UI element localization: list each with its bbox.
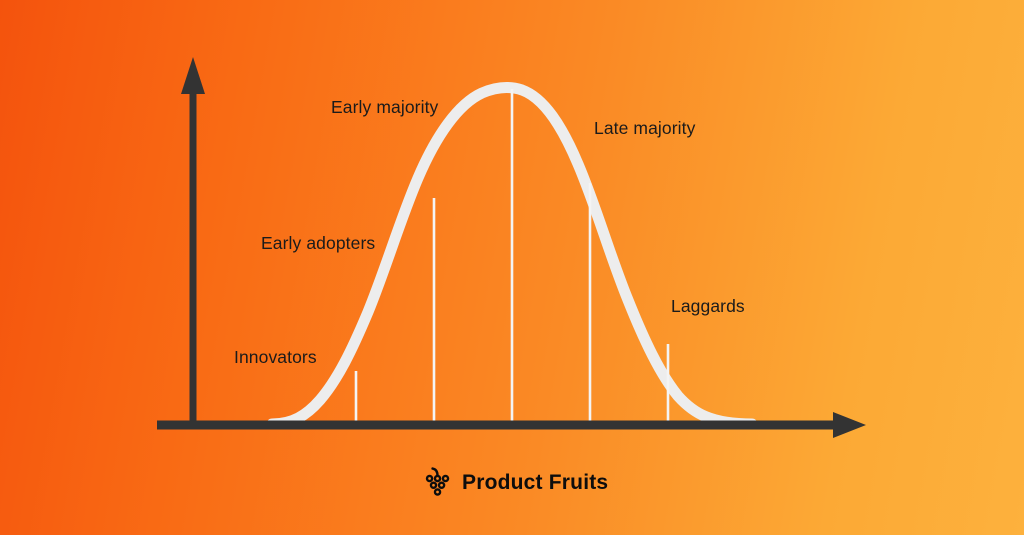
x-axis-arrow-icon xyxy=(833,412,866,438)
infographic-canvas: Innovators Early adopters Early majority… xyxy=(0,0,1024,535)
segment-label-late-majority: Late majority xyxy=(594,120,695,138)
grapes-icon xyxy=(423,466,453,499)
adoption-curve-chart xyxy=(0,0,1024,535)
segment-label-early-majority: Early majority xyxy=(331,99,438,117)
segment-label-early-adopters: Early adopters xyxy=(261,235,375,253)
y-axis-arrow-icon xyxy=(181,57,205,94)
segment-label-innovators: Innovators xyxy=(234,349,317,367)
brand-name: Product Fruits xyxy=(462,472,608,493)
brand-lockup: Product Fruits xyxy=(423,462,608,502)
segment-label-laggards: Laggards xyxy=(671,298,745,316)
